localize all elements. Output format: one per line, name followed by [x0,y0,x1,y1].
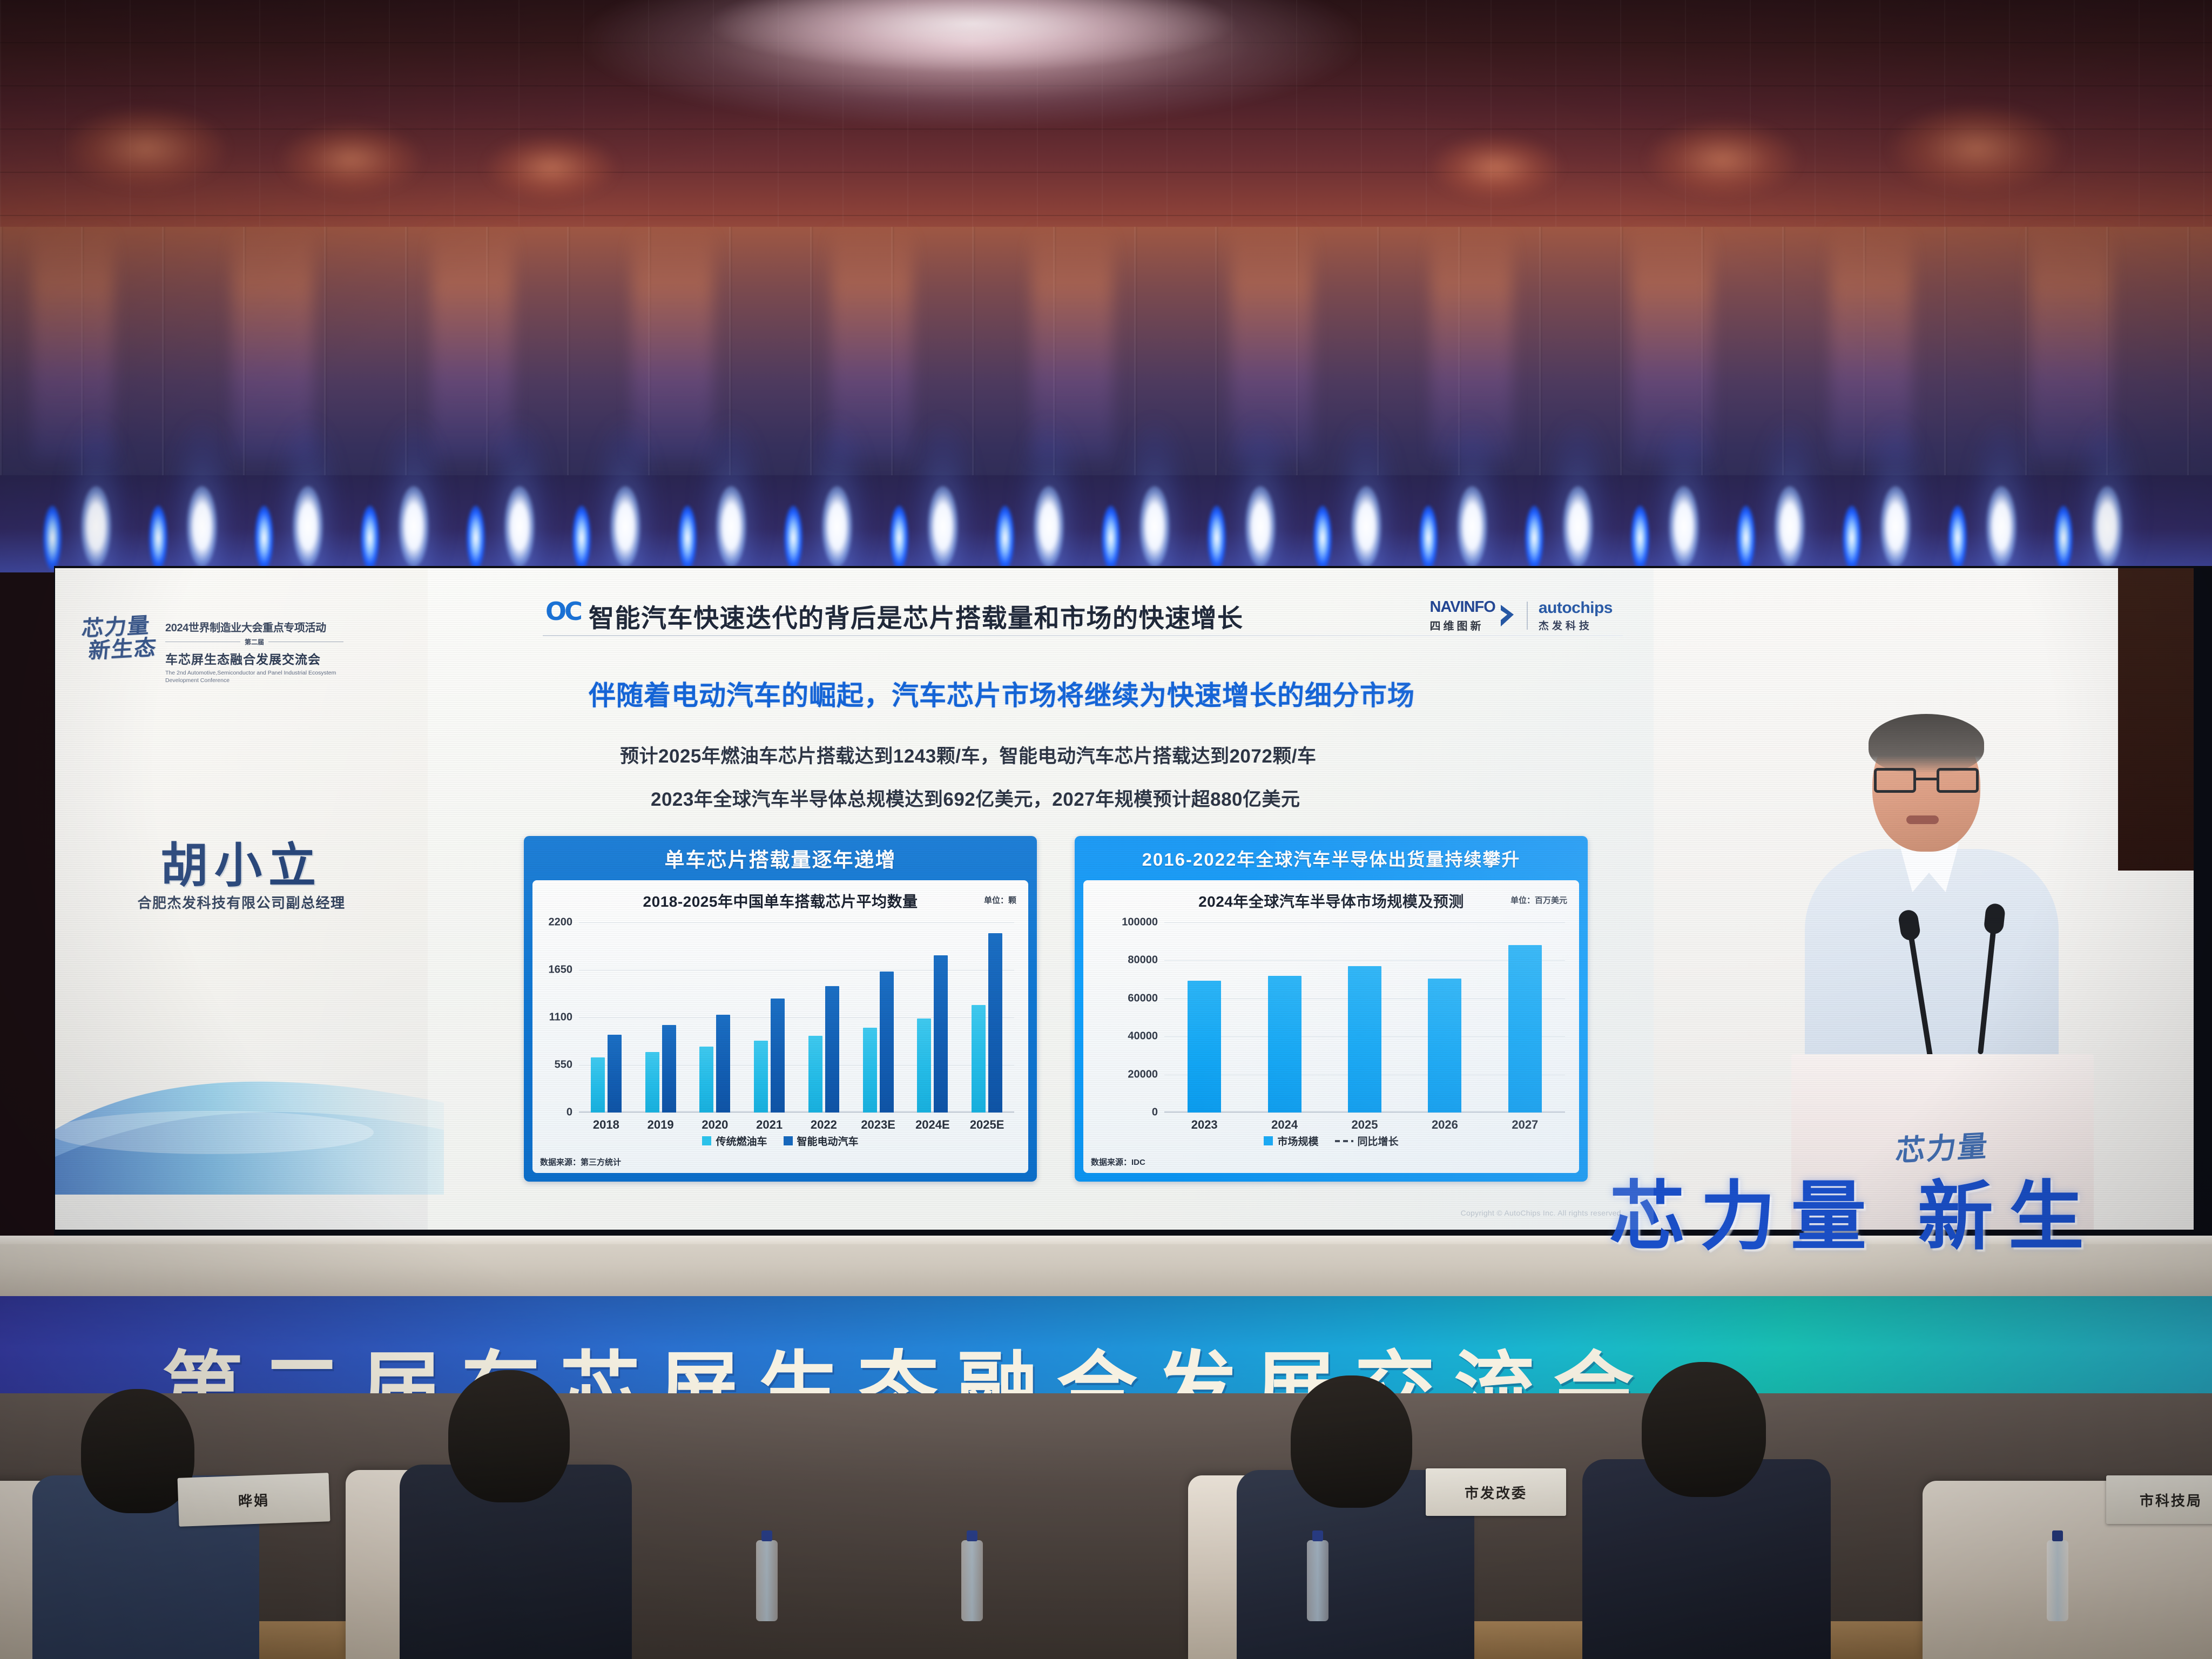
bar [988,933,1002,1112]
stage-lamp [1669,486,1699,567]
bar-group [1405,922,1485,1112]
ceiling [0,0,2212,259]
light-beam [1631,227,1712,459]
bar [863,1028,877,1112]
legend-item: 市场规模 [1264,1134,1318,1148]
stage-lamp-accent [1631,505,1649,570]
legend-label: 市场规模 [1277,1134,1318,1148]
chevron-right-icon [1500,604,1516,628]
stage-lamp [610,486,640,567]
ceiling-light-6 [1890,105,2063,192]
bar [591,1057,605,1112]
logo-divider [1527,602,1528,630]
bar [608,1035,622,1112]
audience-area: 晔娟 市发改委 市科技局 [0,1393,2212,1659]
stage-lamp [2092,486,2122,567]
stage-lamp [1457,486,1487,567]
chart-right-legend: 市场规模同比增长 [1083,1134,1579,1148]
legend-item: 智能电动汽车 [784,1134,859,1148]
stage-lamp-accent [361,505,379,570]
navinfo-logo: NAVINFO 四维图新 [1429,598,1515,633]
light-beam [632,227,713,459]
chart-right-plot: 020000400006000080000100000 [1164,922,1565,1112]
stage-lamp [1139,486,1170,567]
stage-lamp [293,486,323,567]
bar [754,1041,768,1112]
event-edition-row: 第二届 [165,637,343,646]
light-beam [1231,227,1312,459]
stage-lamp-accent [467,505,485,570]
bar-group [1244,922,1324,1112]
legend-item: 同比增长 [1335,1134,1399,1148]
stage-lamp-accent [2054,505,2073,570]
bar [1188,981,1221,1112]
slide-title: 智能汽车快速迭代的背后是芯片搭载量和市场的快速增长 [589,597,1244,635]
stage-lamp [822,486,852,567]
bar-group-container [1164,922,1565,1112]
stage-lamp [928,486,958,567]
glasses-bridge [1916,778,1937,780]
event-line-1: 2024世界制造业大会重点专项活动 [165,619,343,635]
bar-group-container [579,922,1014,1112]
bar [699,1047,713,1112]
bar [1428,979,1461,1112]
stage-lamp [716,486,746,567]
ceiling-light-4 [1431,135,1561,200]
bar-group [688,922,743,1112]
y-axis-tick: 0 [1152,1107,1158,1119]
bar-group [797,922,851,1112]
legend-dash-swatch [1335,1140,1353,1142]
gridline [579,1112,1014,1113]
speaker-figure [1805,714,2059,1092]
stage-light-bar [0,475,2212,572]
stage-lamp-accent [1948,505,1967,570]
water-bottle [1307,1540,1328,1621]
chart-right-title: 2024年全球汽车半导体市场规模及预测 [1083,890,1579,912]
stage-lamp [1775,486,1805,567]
stage-lamp-accent [1843,505,1861,570]
y-axis-tick: 1100 [549,1011,572,1024]
speaker-intro-panel: 芯力量 新生态 2024世界制造业大会重点专项活动 第二届 车芯屏生态融合发展交… [55,568,428,1230]
legend-item: 传统燃油车 [702,1134,767,1148]
stage-lamp [1351,486,1381,567]
bar [1268,976,1301,1112]
bar [771,999,785,1112]
event-branding: 芯力量 新生态 2024世界制造业大会重点专项活动 第二届 车芯屏生态融合发展交… [81,616,405,684]
bar-group [633,922,688,1112]
chart-right-xlabels: 20232024202520262027 [1164,1118,1565,1132]
calligraphy-line-2: 新生态 [87,636,158,663]
stage-lamp-accent [255,505,273,570]
x-axis-label: 2022 [797,1118,851,1132]
legend-label: 传统燃油车 [716,1134,767,1148]
slide-body-line-1: 预计2025年燃油车芯片搭载达到1243颗/车，智能电动汽车芯片搭载达到2072… [620,741,1317,768]
y-axis-tick: 60000 [1128,992,1158,1004]
stage-lamp-accent [1737,505,1755,570]
x-axis-label: 2025 [1325,1118,1405,1132]
stage-lamp [187,486,217,567]
partner-logos: NAVINFO 四维图新 autochips 杰发科技 [1429,598,1613,633]
bar [1348,966,1381,1112]
bar [645,1052,659,1112]
decorative-swoosh [55,1016,444,1195]
y-axis-tick: 20000 [1128,1068,1158,1081]
x-axis-label: 2026 [1405,1118,1485,1132]
ceiling-light-1 [65,108,227,189]
chart-card-right: 2016-2022年全球汽车半导体出货量持续攀升 2024年全球汽车半导体市场规… [1075,836,1588,1182]
chart-right-body: 2024年全球汽车半导体市场规模及预测 单位：百万美元 020000400006… [1083,880,1579,1173]
stage-lamp-accent [1208,505,1226,570]
bar-group [906,922,960,1112]
navinfo-logo-en: NAVINFO [1429,598,1495,616]
light-beam [432,227,513,459]
audience-head [1642,1362,1766,1497]
water-bottle [961,1540,983,1621]
stage-lamp-accent [43,505,62,570]
bar-group [1485,922,1565,1112]
stage-lamp-accent [1419,505,1438,570]
stage-lamp-accent [1313,505,1332,570]
slide-copyright: Copyright © AutoChips Inc. All rights re… [1461,1209,1623,1649]
slide-body-line-2: 2023年全球汽车半导体总规模达到692亿美元，2027年规模预计超880亿美元 [651,784,1300,812]
stage-lamp [399,486,429,567]
lens-left [1874,768,1916,793]
chart-left-unit: 单位：颗 [984,894,1016,906]
autochips-oc-icon: OC [545,597,581,626]
bar [934,955,948,1112]
bar-group [851,922,906,1112]
bar-group [742,922,797,1112]
header-divider [543,635,1623,636]
stage-lamp-accent [1102,505,1120,570]
nameplate-1: 晔娟 [178,1473,331,1527]
autochips-logo-en: autochips [1539,599,1613,617]
bar [662,1025,676,1112]
x-axis-label: 2025E [960,1118,1014,1132]
speaker-hair [1869,714,1984,773]
bar [716,1015,730,1112]
legend-swatch [702,1136,711,1145]
autochips-logo-cn: 杰发科技 [1539,618,1613,632]
bar [880,972,894,1112]
stage-lamp-accent [996,505,1014,570]
y-axis-tick: 550 [555,1059,572,1071]
stage-lamp-accent [784,505,802,570]
bar [1508,945,1542,1112]
audience-head [81,1389,194,1513]
speaker-mouth [1906,815,1939,824]
x-axis-label: 2027 [1485,1118,1565,1132]
gridline [1164,1112,1565,1113]
conference-stage-photo: 芯力量 新生态 2024世界制造业大会重点专项活动 第二届 车芯屏生态融合发展交… [0,0,2212,1659]
chart-left-body: 2018-2025年中国单车搭载芯片平均数量 单位：颗 055011001650… [532,880,1028,1173]
swoosh-icon [55,1016,444,1195]
y-axis-tick: 100000 [1122,916,1158,929]
y-axis-tick: 80000 [1128,954,1158,967]
stage-lamp [1986,486,2017,567]
stage-lamp [1880,486,1911,567]
chart-left-xlabels: 201820192020202120222023E2024E2025E [579,1118,1014,1132]
y-axis-tick: 2200 [549,916,573,929]
x-axis-label: 2020 [688,1118,743,1132]
bar [917,1019,931,1112]
feed-dark-edge [2118,568,2194,871]
water-bottle [756,1540,778,1621]
legend-swatch [784,1136,793,1145]
water-bottle [2047,1540,2068,1621]
x-axis-label: 2023E [851,1118,906,1132]
y-axis-tick: 1650 [549,964,573,976]
event-meta: 2024世界制造业大会重点专项活动 第二届 车芯屏生态融合发展交流会 The 2… [165,616,343,684]
stage-lamp [1563,486,1593,567]
lens-right [1937,768,1979,793]
ceiling-light-2 [281,124,421,194]
event-line-2: 车芯屏生态融合发展交流会 [165,649,343,667]
rule-left [165,642,240,642]
stage-lamp [1245,486,1276,567]
stage-lamp-accent [1525,505,1543,570]
navinfo-logo-cn: 四维图新 [1429,617,1495,633]
chart-card-left-header: 单车芯片搭载量逐年递增 [524,836,1037,880]
event-english-subtitle: The 2nd Automotive,Semiconductor and Pan… [165,669,343,684]
glasses-icon [1874,768,1979,793]
legend-label: 智能电动汽车 [797,1134,859,1148]
stage-lamp [1034,486,1064,567]
x-axis-label: 2024 [1244,1118,1324,1132]
x-axis-label: 2019 [633,1118,688,1132]
chart-left-legend: 传统燃油车智能电动汽车 [532,1134,1028,1148]
chart-card-right-header: 2016-2022年全球汽车半导体出货量持续攀升 [1075,836,1588,880]
ceiling-light-5 [1647,122,1798,197]
live-camera-feed: 芯力量 [1654,568,2194,1230]
stage-lamp-accent [149,505,167,570]
audience-head [1291,1375,1412,1508]
stage-lamp-accent [678,505,697,570]
bar-group [1164,922,1244,1112]
x-axis-label: 2018 [579,1118,633,1132]
rule-right [268,642,343,642]
speaker-title: 合肥杰发科技有限公司副总经理 [55,892,428,912]
bar-group [1325,922,1405,1112]
bar-group [579,922,633,1112]
chart-left-title: 2018-2025年中国单车搭载芯片平均数量 [532,890,1028,912]
autochips-logo: autochips 杰发科技 [1539,599,1613,632]
x-axis-label: 2024E [906,1118,960,1132]
nameplate-3: 市科技局 [2106,1475,2212,1524]
bar [972,1005,986,1112]
bar-group [960,922,1014,1112]
ceiling-light-3 [486,135,616,200]
x-axis-label: 2021 [742,1118,797,1132]
stage-lamp [504,486,535,567]
chart-left-source: 数据来源：第三方统计 [540,1156,621,1168]
bar [825,986,839,1112]
chart-right-unit: 单位：百万美元 [1510,894,1567,906]
legend-label: 同比增长 [1358,1134,1399,1148]
audience-head [448,1370,570,1502]
stage-overlay-text: 芯力量 新生 [1609,1156,2099,1265]
chart-right-source: 数据来源：IDC [1091,1156,1145,1168]
event-edition: 第二届 [245,637,264,646]
x-axis-label: 2023 [1164,1118,1244,1132]
chart-left-plot: 0550110016502200 [579,922,1014,1112]
calligraphy-logo: 芯力量 新生态 [79,613,160,663]
legend-swatch [1264,1136,1273,1145]
stage-lamp [81,486,111,567]
stage-lamp-accent [572,505,591,570]
y-axis-tick: 0 [567,1107,572,1119]
slide-headline: 伴随着电动汽车的崛起，汽车芯片市场将继续为快速增长的细分市场 [589,674,1415,713]
chart-card-left: 单车芯片搭载量逐年递增 2018-2025年中国单车搭载芯片平均数量 单位：颗 … [524,836,1037,1182]
speaker-name: 胡小立 [55,827,428,896]
y-axis-tick: 40000 [1128,1030,1158,1043]
bar [808,1036,822,1112]
stage-lamp-accent [890,505,908,570]
